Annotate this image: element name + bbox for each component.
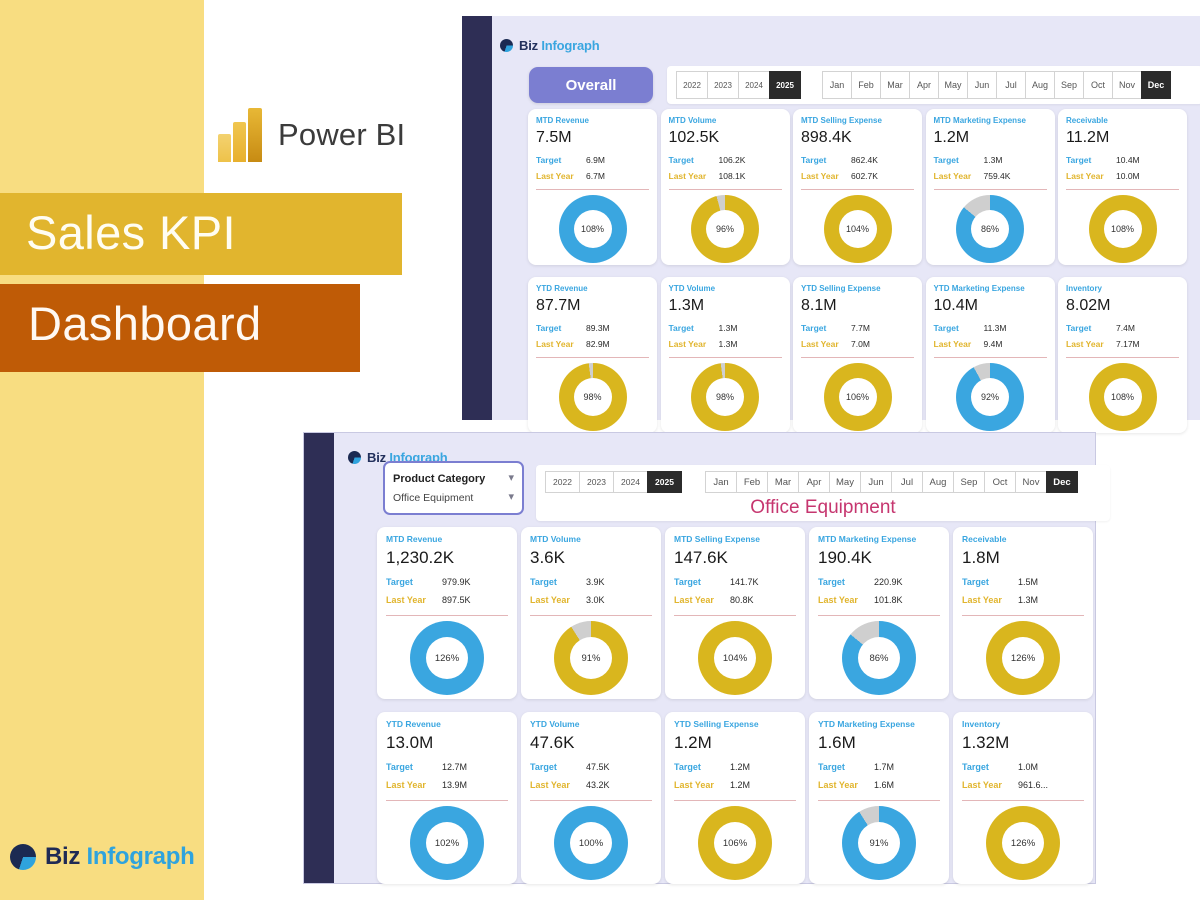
kpi-title: MTD Revenue [386,534,442,544]
month-chip-jan[interactable]: Jan [705,471,737,493]
kpi-donut-gauge: 91% [554,621,628,695]
kpi-title: YTD Marketing Expense [818,719,915,729]
kpi-percent-label: 106% [839,378,877,416]
year-chip-2022[interactable]: 2022 [545,471,580,493]
kpi-target-row: Target1.0M [962,762,1084,772]
kpi-last-year-value: 9.4M [984,339,1003,349]
kpi-target-label: Target [536,323,586,333]
kpi-card[interactable]: YTD Revenue13.0MTarget12.7MLast Year13.9… [377,712,517,884]
kpi-card[interactable]: MTD Marketing Expense190.4KTarget220.9KL… [809,527,949,699]
month-chip-dec[interactable]: Dec [1046,471,1078,493]
kpi-target-value: 3.9K [586,577,605,587]
year-slicer[interactable]: 2022202320242025 [676,71,800,99]
kpi-value: 3.6K [530,548,565,568]
kpi-target-label: Target [801,155,851,165]
kpi-percent-label: 102% [426,822,468,864]
kpi-target-label: Target [962,762,1018,772]
month-chip-jan[interactable]: Jan [822,71,852,99]
kpi-target-value: 1.3M [719,323,738,333]
month-chip-sep[interactable]: Sep [1054,71,1084,99]
kpi-card[interactable]: YTD Revenue87.7MTarget89.3MLast Year82.9… [528,277,657,433]
kpi-target-row: Target6.9M [536,155,649,165]
kpi-card[interactable]: MTD Revenue7.5MTarget6.9MLast Year6.7M10… [528,109,657,265]
kpi-title: MTD Revenue [536,116,589,125]
kpi-divider [536,357,649,358]
kpi-target-label: Target [934,155,984,165]
kpi-last-year-value: 3.0K [586,595,605,605]
kpi-value: 1.6M [818,733,856,753]
kpi-last-year-row: Last Year9.4M [934,339,1047,349]
kpi-last-year-row: Last Year1.3M [669,339,782,349]
pie-chart-logo-icon [500,39,513,52]
month-chip-jul[interactable]: Jul [996,71,1026,99]
overall-filter-button[interactable]: Overall [529,67,653,103]
kpi-divider [536,189,649,190]
kpi-target-row: Target862.4K [801,155,914,165]
kpi-divider [386,615,508,616]
product-category-value-dropdown[interactable]: Office Equipment ▾ [393,492,514,504]
category-title: Office Equipment [545,497,1101,519]
kpi-last-year-label: Last Year [801,339,851,349]
kpi-target-value: 11.3M [984,323,1007,333]
month-slicer[interactable]: JanFebMarAprMayJunJulAugSepOctNovDec [705,471,1077,493]
year-chip-2023[interactable]: 2023 [579,471,614,493]
kpi-percent-label: 96% [706,210,744,248]
kpi-last-year-row: Last Year1.6M [818,780,940,790]
kpi-donut-gauge: 102% [410,806,484,880]
kpi-target-label: Target [818,762,874,772]
kpi-last-year-label: Last Year [674,595,730,605]
kpi-target-row: Target979.9K [386,577,508,587]
kpi-donut-gauge: 126% [410,621,484,695]
kpi-last-year-row: Last Year6.7M [536,171,649,181]
kpi-last-year-label: Last Year [934,171,984,181]
kpi-last-year-label: Last Year [536,171,586,181]
pie-chart-logo-icon [10,844,36,870]
kpi-value: 1,230.2K [386,548,454,568]
kpi-last-year-value: 43.2K [586,780,610,790]
month-chip-sep[interactable]: Sep [953,471,985,493]
kpi-donut-gauge: 98% [559,363,627,431]
month-chip-aug[interactable]: Aug [922,471,954,493]
kpi-target-row: Target10.4M [1066,155,1179,165]
kpi-divider [934,189,1047,190]
kpi-last-year-row: Last Year602.7K [801,171,914,181]
kpi-last-year-row: Last Year43.2K [530,780,652,790]
power-bi-bars-icon [218,108,264,162]
kpi-target-label: Target [818,577,874,587]
month-chip-mar[interactable]: Mar [767,471,799,493]
kpi-card[interactable]: YTD Marketing Expense10.4MTarget11.3MLas… [926,277,1055,433]
month-chip-nov[interactable]: Nov [1112,71,1142,99]
kpi-percent-label: 98% [574,378,612,416]
kpi-donut-gauge: 104% [698,621,772,695]
kpi-donut-gauge: 106% [698,806,772,880]
dashboard-top-left-rail [462,16,492,420]
dashboard-top-slicer-bar: 2022202320242025 JanFebMarAprMayJunJulAu… [667,66,1200,104]
kpi-donut-gauge: 106% [824,363,892,431]
kpi-last-year-label: Last Year [674,780,730,790]
kpi-title: YTD Revenue [386,719,441,729]
kpi-target-label: Target [674,577,730,587]
kpi-card[interactable]: MTD Marketing Expense1.2MTarget1.3MLast … [926,109,1055,265]
kpi-target-label: Target [801,323,851,333]
month-chip-mar[interactable]: Mar [880,71,910,99]
kpi-last-year-row: Last Year82.9M [536,339,649,349]
kpi-title: YTD Selling Expense [801,284,881,293]
kpi-target-row: Target12.7M [386,762,508,772]
biz-infograph-footer-logo: Biz Infograph [10,843,194,871]
product-category-filter[interactable]: Product Category ▾ Office Equipment ▾ [383,461,524,515]
kpi-last-year-value: 602.7K [851,171,878,181]
kpi-card[interactable]: MTD Selling Expense147.6KTarget141.7KLas… [665,527,805,699]
month-chip-oct[interactable]: Oct [1083,71,1113,99]
kpi-last-year-value: 6.7M [586,171,605,181]
chevron-down-icon: ▾ [508,492,514,503]
kpi-target-label: Target [386,577,442,587]
kpi-last-year-row: Last Year7.0M [801,339,914,349]
kpi-target-row: Target3.9K [530,577,652,587]
kpi-donut-gauge: 96% [691,195,759,263]
year-chip-2023[interactable]: 2023 [707,71,739,99]
kpi-title: YTD Marketing Expense [934,284,1025,293]
kpi-target-value: 106.2K [719,155,746,165]
kpi-title: MTD Volume [530,534,581,544]
page-title-line2: Dashboard [28,296,262,351]
kpi-percent-label: 104% [714,637,756,679]
kpi-target-value: 1.7M [874,762,894,772]
kpi-percent-label: 126% [1002,822,1044,864]
kpi-last-year-value: 13.9M [442,780,467,790]
kpi-donut-gauge: 98% [691,363,759,431]
kpi-last-year-label: Last Year [669,339,719,349]
kpi-donut-gauge: 91% [842,806,916,880]
brand-biz: Biz [519,38,538,53]
kpi-value: 11.2M [1066,129,1109,147]
kpi-value: 147.6K [674,548,728,568]
kpi-donut-gauge: 108% [559,195,627,263]
kpi-last-year-row: Last Year13.9M [386,780,508,790]
kpi-percent-label: 106% [714,822,756,864]
kpi-card[interactable]: MTD Selling Expense898.4KTarget862.4KLas… [793,109,922,265]
kpi-last-year-row: Last Year108.1K [669,171,782,181]
month-chip-apr[interactable]: Apr [909,71,939,99]
month-chip-may[interactable]: May [938,71,968,99]
kpi-target-row: Target89.3M [536,323,649,333]
kpi-last-year-row: Last Year3.0K [530,595,652,605]
power-bi-label: Power BI [278,117,405,153]
kpi-donut-gauge: 126% [986,806,1060,880]
month-chip-nov[interactable]: Nov [1015,471,1047,493]
kpi-donut-gauge: 126% [986,621,1060,695]
kpi-last-year-value: 961.6... [1018,780,1048,790]
kpi-title: YTD Volume [530,719,579,729]
kpi-card[interactable]: YTD Selling Expense1.2MTarget1.2MLast Ye… [665,712,805,884]
kpi-divider [1066,189,1179,190]
kpi-title: YTD Selling Expense [674,719,759,729]
kpi-donut-gauge: 86% [842,621,916,695]
kpi-value: 1.3M [669,297,705,315]
kpi-target-label: Target [669,323,719,333]
kpi-last-year-value: 108.1K [719,171,746,181]
kpi-percent-label: 91% [570,637,612,679]
product-category-label: Product Category [393,473,485,485]
kpi-divider [674,615,796,616]
kpi-percent-label: 86% [858,637,900,679]
year-chip-2025[interactable]: 2025 [769,71,801,99]
kpi-percent-label: 98% [706,378,744,416]
kpi-card[interactable]: Inventory8.02MTarget7.4MLast Year7.17M10… [1058,277,1187,433]
month-chip-jul[interactable]: Jul [891,471,923,493]
kpi-percent-label: 86% [971,210,1009,248]
kpi-divider [530,615,652,616]
kpi-last-year-row: Last Year10.0M [1066,171,1179,181]
kpi-target-value: 862.4K [851,155,878,165]
dashboard-office-equipment: Biz Infograph Product Category ▾ Office … [303,432,1096,884]
kpi-target-value: 47.5K [586,762,610,772]
kpi-divider [934,357,1047,358]
kpi-last-year-row: Last Year101.8K [818,595,940,605]
kpi-divider [962,615,1084,616]
kpi-last-year-value: 1.2M [730,780,750,790]
kpi-target-row: Target1.5M [962,577,1084,587]
kpi-donut-gauge: 108% [1089,363,1157,431]
kpi-target-value: 220.9K [874,577,903,587]
kpi-target-label: Target [934,323,984,333]
kpi-divider [962,800,1084,801]
kpi-divider [801,189,914,190]
kpi-target-label: Target [530,577,586,587]
kpi-card[interactable]: MTD Revenue1,230.2KTarget979.9KLast Year… [377,527,517,699]
kpi-title: MTD Selling Expense [801,116,882,125]
kpi-last-year-row: Last Year759.4K [934,171,1047,181]
kpi-divider [669,189,782,190]
kpi-last-year-label: Last Year [818,780,874,790]
kpi-value: 8.1M [801,297,837,315]
kpi-target-label: Target [962,577,1018,587]
kpi-last-year-label: Last Year [801,171,851,181]
dashboard-top-brand: Biz Infograph [500,38,599,53]
kpi-divider [669,357,782,358]
month-chip-jun[interactable]: Jun [967,71,997,99]
dashboard-overall: Biz Infograph Overall 2022202320242025 J… [462,16,1200,420]
kpi-target-value: 1.5M [1018,577,1038,587]
kpi-value: 1.2M [934,129,970,147]
dashboard-bottom-slicer-bar: 2022202320242025 JanFebMarAprMayJunJulAu… [536,465,1110,521]
kpi-last-year-label: Last Year [669,171,719,181]
kpi-card[interactable]: YTD Volume1.3MTarget1.3MLast Year1.3M98% [661,277,790,433]
kpi-value: 47.6K [530,733,574,753]
product-category-dropdown[interactable]: Product Category ▾ [393,473,514,485]
kpi-target-row: Target1.3M [669,323,782,333]
power-bi-logo: Power BI [218,108,405,162]
kpi-target-row: Target7.7M [801,323,914,333]
kpi-last-year-label: Last Year [1066,339,1116,349]
kpi-percent-label: 126% [426,637,468,679]
year-chip-2025[interactable]: 2025 [647,471,682,493]
month-chip-oct[interactable]: Oct [984,471,1016,493]
year-chip-2022[interactable]: 2022 [676,71,708,99]
kpi-last-year-label: Last Year [386,595,442,605]
kpi-target-value: 89.3M [586,323,610,333]
kpi-target-value: 7.4M [1116,323,1135,333]
footer-brand-biz: Biz [45,843,80,870]
kpi-value: 1.8M [962,548,1000,568]
kpi-title: Inventory [1066,284,1102,293]
month-chip-feb[interactable]: Feb [736,471,768,493]
kpi-target-value: 1.0M [1018,762,1038,772]
year-chip-2024[interactable]: 2024 [613,471,648,493]
kpi-last-year-label: Last Year [818,595,874,605]
kpi-last-year-row: Last Year1.2M [674,780,796,790]
kpi-donut-gauge: 100% [554,806,628,880]
kpi-donut-gauge: 86% [956,195,1024,263]
kpi-value: 87.7M [536,297,580,315]
page-title-line1: Sales KPI [26,205,236,260]
kpi-value: 13.0M [386,733,433,753]
kpi-value: 102.5K [669,129,720,147]
kpi-last-year-value: 101.8K [874,595,903,605]
kpi-last-year-label: Last Year [536,339,586,349]
month-chip-may[interactable]: May [829,471,861,493]
kpi-target-label: Target [1066,155,1116,165]
kpi-target-row: Target7.4M [1066,323,1179,333]
kpi-title: MTD Marketing Expense [934,116,1026,125]
brand-infograph: Infograph [541,38,599,53]
month-chip-jun[interactable]: Jun [860,471,892,493]
kpi-percent-label: 91% [858,822,900,864]
kpi-value: 10.4M [934,297,978,315]
kpi-divider [386,800,508,801]
kpi-donut-gauge: 92% [956,363,1024,431]
kpi-percent-label: 108% [1104,210,1142,248]
kpi-percent-label: 108% [574,210,612,248]
kpi-last-year-label: Last Year [1066,171,1116,181]
kpi-target-row: Target106.2K [669,155,782,165]
kpi-value: 190.4K [818,548,872,568]
kpi-title: YTD Volume [669,284,716,293]
kpi-target-label: Target [1066,323,1116,333]
kpi-card[interactable]: Inventory1.32MTarget1.0MLast Year961.6..… [953,712,1093,884]
kpi-card[interactable]: YTD Selling Expense8.1MTarget7.7MLast Ye… [793,277,922,433]
kpi-value: 1.2M [674,733,712,753]
kpi-card[interactable]: Receivable1.8MTarget1.5MLast Year1.3M126… [953,527,1093,699]
kpi-divider [674,800,796,801]
kpi-last-year-label: Last Year [962,780,1018,790]
kpi-last-year-row: Last Year80.8K [674,595,796,605]
product-category-value: Office Equipment [393,492,473,504]
kpi-donut-gauge: 108% [1089,195,1157,263]
chevron-down-icon: ▾ [508,473,514,484]
kpi-title: Receivable [1066,116,1108,125]
kpi-target-row: Target141.7K [674,577,796,587]
brand-biz: Biz [367,450,386,465]
kpi-last-year-value: 897.5K [442,595,471,605]
kpi-target-row: Target1.3M [934,155,1047,165]
kpi-target-value: 141.7K [730,577,759,587]
kpi-target-label: Target [530,762,586,772]
kpi-last-year-value: 82.9M [586,339,610,349]
month-chip-feb[interactable]: Feb [851,71,881,99]
kpi-last-year-value: 1.3M [1018,595,1038,605]
kpi-divider [530,800,652,801]
kpi-card[interactable]: YTD Volume47.6KTarget47.5KLast Year43.2K… [521,712,661,884]
kpi-target-label: Target [536,155,586,165]
kpi-card[interactable]: YTD Marketing Expense1.6MTarget1.7MLast … [809,712,949,884]
kpi-target-label: Target [674,762,730,772]
kpi-title: MTD Volume [669,116,717,125]
kpi-card[interactable]: MTD Volume102.5KTarget106.2KLast Year108… [661,109,790,265]
kpi-target-row: Target220.9K [818,577,940,587]
kpi-percent-label: 104% [839,210,877,248]
kpi-card[interactable]: Receivable11.2MTarget10.4MLast Year10.0M… [1058,109,1187,265]
month-slicer[interactable]: JanFebMarAprMayJunJulAugSepOctNovDec [822,71,1170,99]
kpi-percent-label: 100% [570,822,612,864]
kpi-last-year-row: Last Year897.5K [386,595,508,605]
kpi-last-year-label: Last Year [530,780,586,790]
kpi-card[interactable]: MTD Volume3.6KTarget3.9KLast Year3.0K91% [521,527,661,699]
kpi-divider [801,357,914,358]
promo-background-panel [0,0,204,900]
kpi-value: 8.02M [1066,297,1110,315]
kpi-last-year-label: Last Year [386,780,442,790]
pie-chart-logo-icon [348,451,361,464]
kpi-last-year-row: Last Year1.3M [962,595,1084,605]
kpi-last-year-row: Last Year7.17M [1066,339,1179,349]
kpi-value: 898.4K [801,129,852,147]
kpi-divider [1066,357,1179,358]
year-slicer[interactable]: 2022202320242025 [545,471,681,493]
kpi-last-year-value: 1.3M [719,339,738,349]
kpi-divider [818,800,940,801]
kpi-last-year-value: 7.0M [851,339,870,349]
kpi-percent-label: 92% [971,378,1009,416]
kpi-target-value: 12.7M [442,762,467,772]
kpi-target-value: 1.3M [984,155,1003,165]
kpi-target-label: Target [386,762,442,772]
kpi-last-year-label: Last Year [962,595,1018,605]
kpi-last-year-value: 7.17M [1116,339,1140,349]
month-chip-apr[interactable]: Apr [798,471,830,493]
kpi-target-row: Target47.5K [530,762,652,772]
kpi-last-year-value: 1.6M [874,780,894,790]
kpi-last-year-value: 80.8K [730,595,754,605]
year-chip-2024[interactable]: 2024 [738,71,770,99]
kpi-title: Inventory [962,719,1000,729]
month-chip-aug[interactable]: Aug [1025,71,1055,99]
kpi-value: 1.32M [962,733,1009,753]
footer-brand-infograph: Infograph [86,843,194,870]
kpi-title: MTD Selling Expense [674,534,760,544]
kpi-value: 7.5M [536,129,572,147]
kpi-target-label: Target [669,155,719,165]
kpi-target-value: 10.4M [1116,155,1140,165]
kpi-percent-label: 126% [1002,637,1044,679]
kpi-title: MTD Marketing Expense [818,534,916,544]
dashboard-bottom-left-rail [304,433,334,883]
kpi-last-year-row: Last Year961.6... [962,780,1084,790]
kpi-target-row: Target1.7M [818,762,940,772]
kpi-title: Receivable [962,534,1006,544]
kpi-percent-label: 108% [1104,378,1142,416]
kpi-title: YTD Revenue [536,284,588,293]
kpi-target-value: 7.7M [851,323,870,333]
kpi-target-row: Target1.2M [674,762,796,772]
kpi-target-row: Target11.3M [934,323,1047,333]
month-chip-dec[interactable]: Dec [1141,71,1171,99]
kpi-target-value: 1.2M [730,762,750,772]
kpi-last-year-value: 10.0M [1116,171,1140,181]
